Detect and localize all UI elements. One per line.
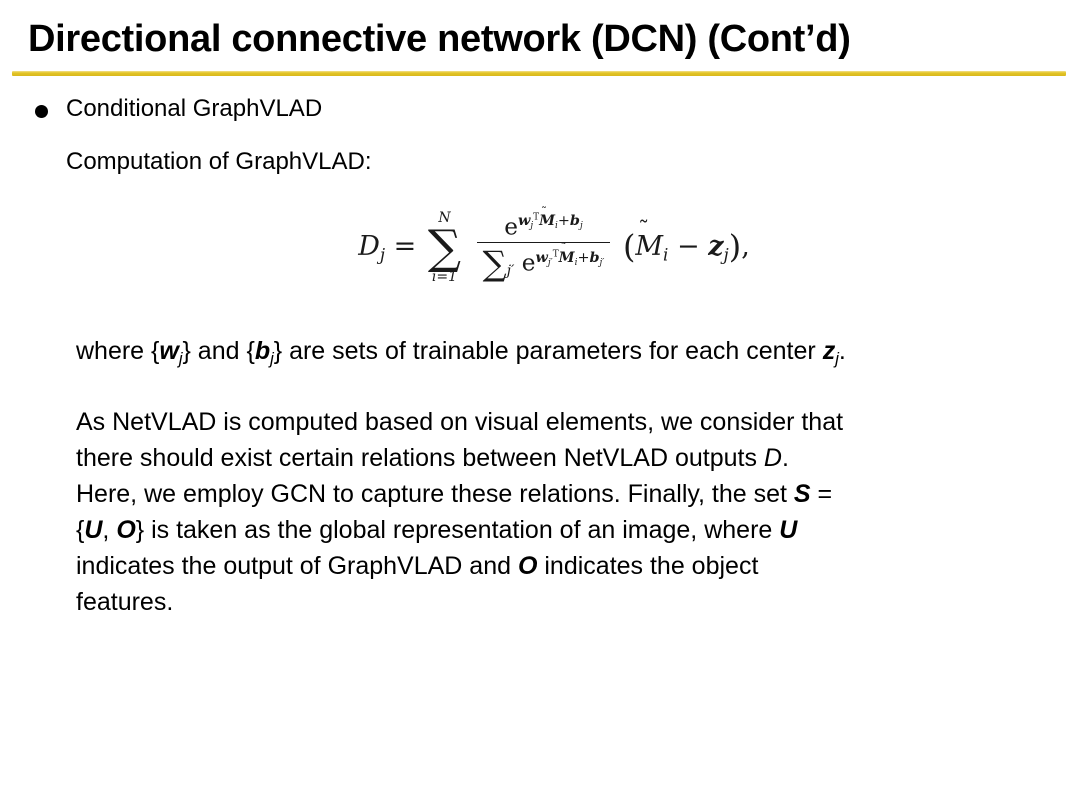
paragraph-line-5-post: indicates the object (537, 552, 758, 580)
formula-lhs-variable: D (358, 231, 380, 262)
formula-summation: N ∑ i=1 (428, 211, 461, 284)
denominator-b-subscript: j′ (600, 257, 605, 267)
where-text-part1: where { (76, 337, 159, 365)
page-title: Directional connective network (DCN) (Co… (28, 18, 1052, 62)
paragraph-var-u: U (84, 516, 102, 544)
paragraph-line-3-text: Here, we employ GCN to capture these rel… (76, 480, 794, 508)
where-text-part4: . (839, 337, 846, 365)
numerator-plus: + (558, 213, 570, 229)
paragraph-var-u-trailing: U (779, 516, 797, 544)
denominator-summation-symbol: ∑ (483, 244, 507, 283)
denominator-b: b (589, 249, 599, 266)
paragraph-var-o-2: O (518, 552, 537, 580)
formula-block: Dj = N ∑ i=1 ewjT̃Mi+bj ∑j′ ewj′T̃Mi+bj′ (0, 211, 1080, 284)
paragraph-line-2-text: there should exist certain relations bet… (76, 444, 764, 472)
paragraph-line-4: {U, O} is taken as the global representa… (76, 512, 1034, 548)
subheading-computation: Computation of GraphVLAD: (0, 145, 1080, 179)
where-text-part2: } and { (183, 337, 255, 365)
numerator-m-tilde: ̃M (539, 214, 555, 228)
numerator-b: b (570, 212, 580, 229)
fraction-denominator: ∑j′ ewj′T̃Mi+bj′ (477, 243, 611, 281)
paragraph-line-2-post: . (782, 444, 789, 472)
title-underline-rule (12, 71, 1066, 76)
paragraph-line-5-text: indicates the output of GraphVLAD and (76, 552, 518, 580)
body-paragraph: As NetVLAD is computed based on visual e… (0, 404, 1080, 620)
where-var-z: z (823, 337, 836, 365)
denominator-e: e (522, 250, 536, 277)
where-text-part3: } are sets of trainable parameters for e… (274, 337, 823, 365)
bullet-item-conditional-graphvlad: Conditional GraphVLAD (0, 92, 1080, 126)
paragraph-line-4-sep: , (102, 516, 116, 544)
fraction-numerator: ewjT̃Mi+bj (477, 214, 611, 242)
paragraph-line-3-post: = (811, 480, 833, 508)
paragraph-line-2: there should exist certain relations bet… (76, 440, 1034, 476)
formula-fraction: ewjT̃Mi+bj ∑j′ ewj′T̃Mi+bj′ (477, 214, 611, 281)
slide: Directional connective network (DCN) (Co… (0, 0, 1080, 810)
formula-lhs-subscript: j (380, 244, 385, 264)
paragraph-line-5: indicates the output of GraphVLAD and O … (76, 548, 1034, 584)
paragraph-line-6-text: features. (76, 588, 173, 616)
numerator-e: e (504, 213, 518, 240)
tail-m: M (635, 231, 663, 262)
paragraph-var-o: O (116, 516, 135, 544)
paragraph-line-1: As NetVLAD is computed based on visual e… (76, 404, 1034, 440)
denominator-m-tilde: ̃M (559, 251, 575, 265)
numerator-b-subscript: j (580, 221, 583, 231)
slide-body: Conditional GraphVLAD Computation of Gra… (0, 92, 1080, 620)
graphvlad-equation: Dj = N ∑ i=1 ewjT̃Mi+bj ∑j′ ewj′T̃Mi+bj′ (358, 211, 750, 284)
where-clause: where {wj} and {bj} are sets of trainabl… (0, 334, 1080, 376)
denominator-exponent: wj′T̃Mi+bj′ (536, 250, 605, 266)
paragraph-line-1-text: As NetVLAD is computed based on visual e… (76, 408, 843, 436)
paragraph-line-3: Here, we employ GCN to capture these rel… (76, 476, 1034, 512)
paragraph-var-s: S (794, 480, 811, 508)
denominator-plus: + (577, 250, 589, 266)
paragraph-var-d: D (764, 444, 782, 472)
bullet-item-label: Conditional GraphVLAD (66, 95, 322, 122)
summation-lower-limit: i=1 (428, 270, 461, 284)
numerator-exponent: wjT̃Mi+bj (518, 213, 583, 229)
formula-equals-sign: = (394, 231, 417, 262)
formula-minus-sign: − (677, 231, 700, 262)
bullet-dot-icon (35, 105, 48, 118)
paragraph-line-6: features. (76, 584, 1034, 620)
numerator-w: w (518, 212, 530, 229)
summation-symbol: ∑ (428, 226, 461, 269)
denominator-m: M (559, 249, 575, 266)
denominator-w: w (536, 249, 548, 266)
where-var-w: w (159, 337, 178, 365)
formula-close-paren: ) (729, 227, 741, 265)
tail-z: z (708, 231, 723, 262)
tail-m-tilde: ̃M (635, 233, 663, 260)
numerator-m: M (539, 212, 555, 229)
denominator-summation-subscript: j′ (507, 263, 515, 279)
tail-m-subscript: i (663, 244, 668, 264)
formula-trailing-comma: , (741, 231, 750, 262)
formula-open-paren: ( (623, 227, 635, 265)
where-var-b: b (255, 337, 270, 365)
paragraph-line-4-post: } is taken as the global representation … (136, 516, 779, 544)
